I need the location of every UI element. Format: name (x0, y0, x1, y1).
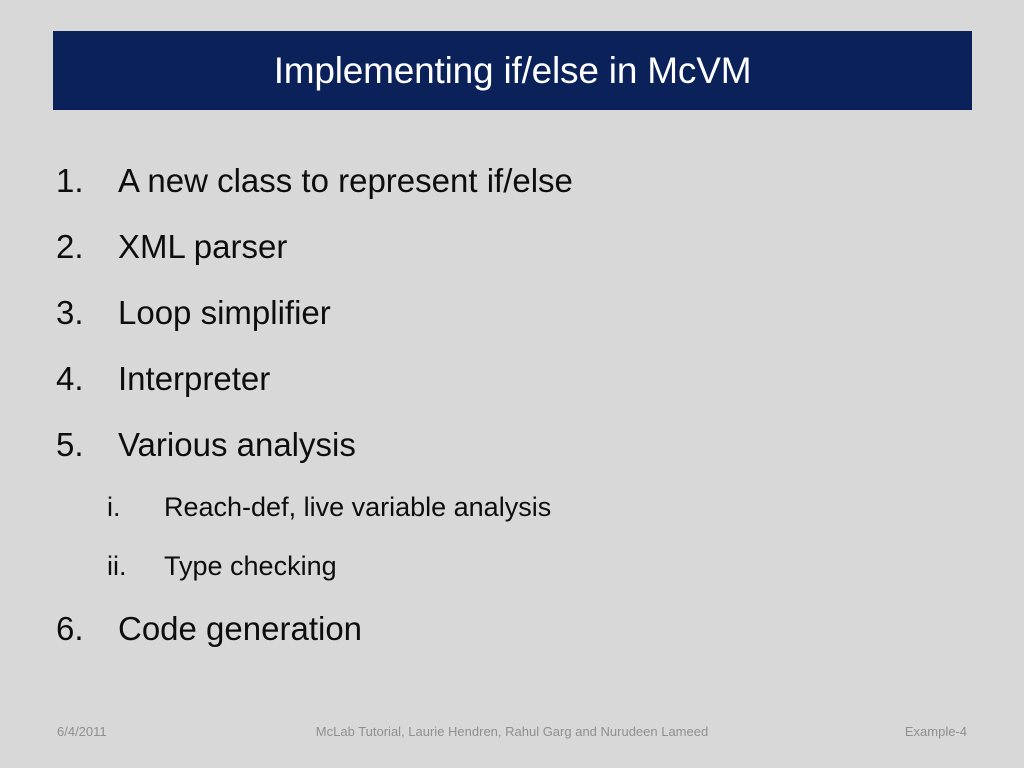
list-item: 1. A new class to represent if/else (56, 148, 966, 214)
footer-attribution: McLab Tutorial, Laurie Hendren, Rahul Ga… (0, 720, 1024, 744)
presentation-slide: Implementing if/else in McVM 1. A new cl… (0, 0, 1024, 768)
list-item-marker: 5. (56, 412, 118, 478)
slide-body-list: 1. A new class to represent if/else 2. X… (56, 148, 966, 662)
sub-list-item: ii. Type checking (56, 537, 966, 596)
sub-list-item-label: Reach-def, live variable analysis (164, 478, 551, 537)
footer-slide-label: Example-4 (905, 720, 967, 744)
list-item-marker: 2. (56, 214, 118, 280)
list-item: 4. Interpreter (56, 346, 966, 412)
sub-list-item-marker: i. (107, 478, 164, 537)
list-item: 5. Various analysis (56, 412, 966, 478)
list-item-marker: 1. (56, 148, 118, 214)
slide-title-bar: Implementing if/else in McVM (53, 31, 972, 110)
list-item: 2. XML parser (56, 214, 966, 280)
list-item: 6. Code generation (56, 596, 966, 662)
list-item: 3. Loop simplifier (56, 280, 966, 346)
list-item-label: XML parser (118, 214, 287, 280)
slide-title: Implementing if/else in McVM (274, 52, 752, 89)
sub-list-item-marker: ii. (107, 537, 164, 596)
list-item-label: Loop simplifier (118, 280, 331, 346)
sub-list-item: i. Reach-def, live variable analysis (56, 478, 966, 537)
sub-list-item-label: Type checking (164, 537, 337, 596)
list-item-label: Interpreter (118, 346, 270, 412)
list-item-label: Code generation (118, 596, 362, 662)
list-item-marker: 6. (56, 596, 118, 662)
slide-footer: 6/4/2011 McLab Tutorial, Laurie Hendren,… (0, 720, 1024, 744)
list-item-label: Various analysis (118, 412, 356, 478)
list-item-marker: 3. (56, 280, 118, 346)
list-item-marker: 4. (56, 346, 118, 412)
list-item-label: A new class to represent if/else (118, 148, 573, 214)
